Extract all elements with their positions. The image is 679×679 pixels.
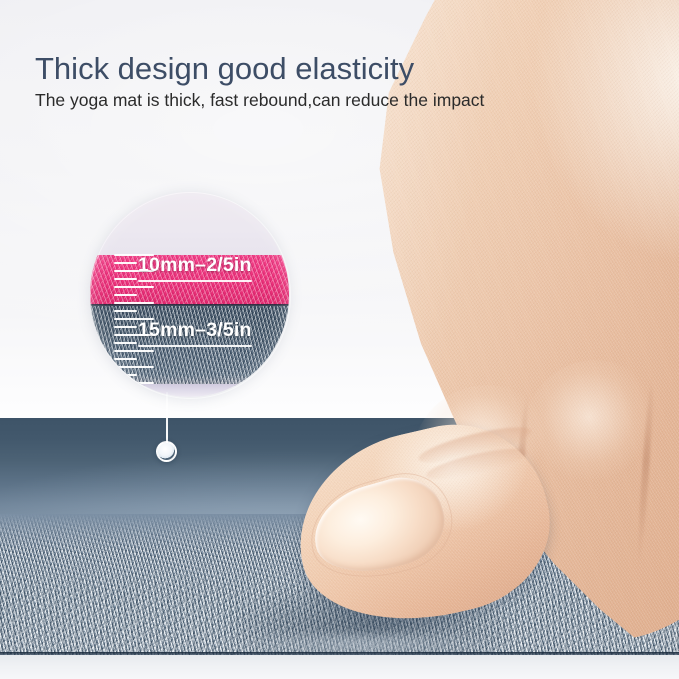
blue-layer-label-text: 15mm–3/5in bbox=[138, 319, 252, 341]
callout-marker-dot bbox=[156, 441, 177, 462]
ruler-tick bbox=[114, 286, 154, 288]
blue-layer-label: 15mm–3/5in bbox=[138, 319, 252, 347]
ruler-tick bbox=[114, 358, 137, 360]
ruler-tick bbox=[114, 278, 137, 280]
floor-strip bbox=[0, 655, 679, 679]
page-subtitle: The yoga mat is thick, fast rebound,can … bbox=[35, 90, 484, 111]
ruler-tick bbox=[114, 342, 137, 344]
ruler-scale bbox=[114, 192, 160, 397]
pink-label-underline bbox=[138, 280, 252, 282]
ruler-tick bbox=[114, 294, 137, 296]
ruler-tick bbox=[114, 262, 137, 264]
product-image-canvas: 10mm–2/5in 15mm–3/5in Thick design good … bbox=[0, 0, 679, 679]
ruler-tick bbox=[114, 366, 154, 368]
ruler-tick bbox=[114, 382, 154, 384]
magnifier-circle: 10mm–2/5in 15mm–3/5in bbox=[90, 192, 289, 397]
page-title: Thick design good elasticity bbox=[35, 52, 414, 85]
ruler-tick bbox=[114, 310, 137, 312]
ruler-tick bbox=[114, 374, 137, 376]
blue-label-underline bbox=[138, 345, 252, 347]
ruler-tick bbox=[114, 326, 137, 328]
pink-layer-label-text: 10mm–2/5in bbox=[138, 254, 252, 276]
ruler-tick bbox=[114, 302, 154, 304]
pink-layer-label: 10mm–2/5in bbox=[138, 254, 252, 282]
ruler-tick bbox=[114, 350, 154, 352]
yoga-mat bbox=[0, 418, 679, 658]
mat-front-edge bbox=[0, 514, 679, 658]
